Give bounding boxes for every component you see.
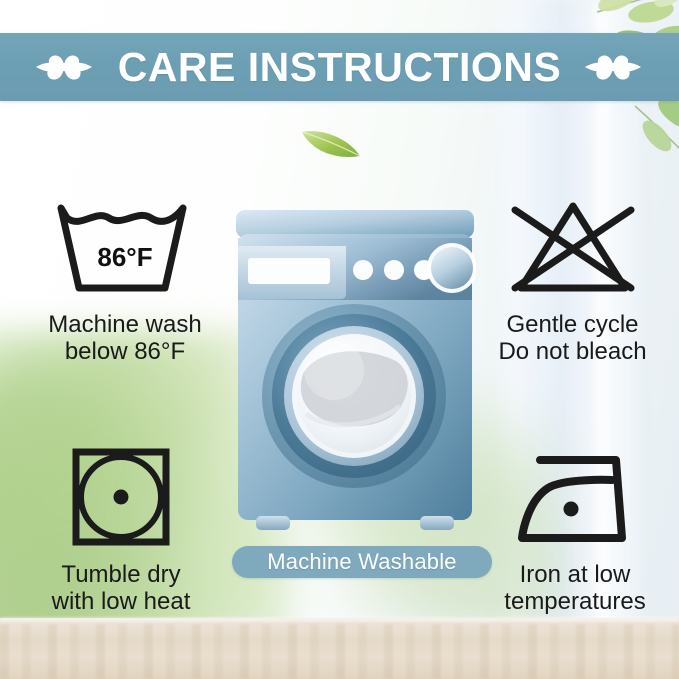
wash-tub-symbol: 86°F	[51, 196, 199, 302]
machine-washable-badge: Machine Washable	[232, 546, 492, 578]
care-symbol-caption: Gentle cycle Do not bleach	[498, 311, 646, 366]
badge-label: Machine Washable	[267, 549, 456, 575]
wash-temperature-label: 86°F	[51, 242, 199, 273]
control-button	[384, 260, 404, 280]
care-symbol-tumble-dry: Tumble dry with low heat	[26, 446, 216, 616]
table-grain	[0, 624, 679, 679]
fleur-de-lis-icon-right	[583, 45, 645, 89]
machine-foot-right	[420, 516, 454, 530]
care-symbol-machine-wash: 86°F Machine wash below 86°F	[30, 196, 220, 366]
drawer-handle	[248, 258, 330, 284]
iron-low-icon	[508, 446, 642, 552]
door-highlight	[304, 340, 364, 400]
washing-machine-illustration	[234, 208, 476, 534]
fleur-de-lis-icon-left	[34, 45, 96, 89]
care-symbol-caption: Tumble dry with low heat	[52, 561, 191, 616]
bleach-triangle-crossed-icon	[499, 196, 647, 302]
care-symbol-caption: Machine wash below 86°F	[48, 311, 201, 366]
header-banner: CARE INSTRUCTIONS	[0, 33, 679, 101]
machine-foot-left	[256, 516, 290, 530]
green-leaf-icon	[298, 122, 364, 162]
machine-top-lid	[236, 210, 474, 238]
tumble-dry-low-icon	[66, 446, 176, 552]
care-symbol-caption: Iron at low temperatures	[504, 561, 645, 616]
care-symbol-do-not-bleach: Gentle cycle Do not bleach	[470, 196, 675, 366]
control-dial	[431, 247, 473, 289]
page-title: CARE INSTRUCTIONS	[118, 44, 562, 91]
care-symbol-iron-low: Iron at low temperatures	[475, 446, 675, 616]
care-instructions-infographic: CARE INSTRUCTIONS 86°F Machine wash belo…	[0, 0, 679, 679]
control-button	[353, 260, 373, 280]
